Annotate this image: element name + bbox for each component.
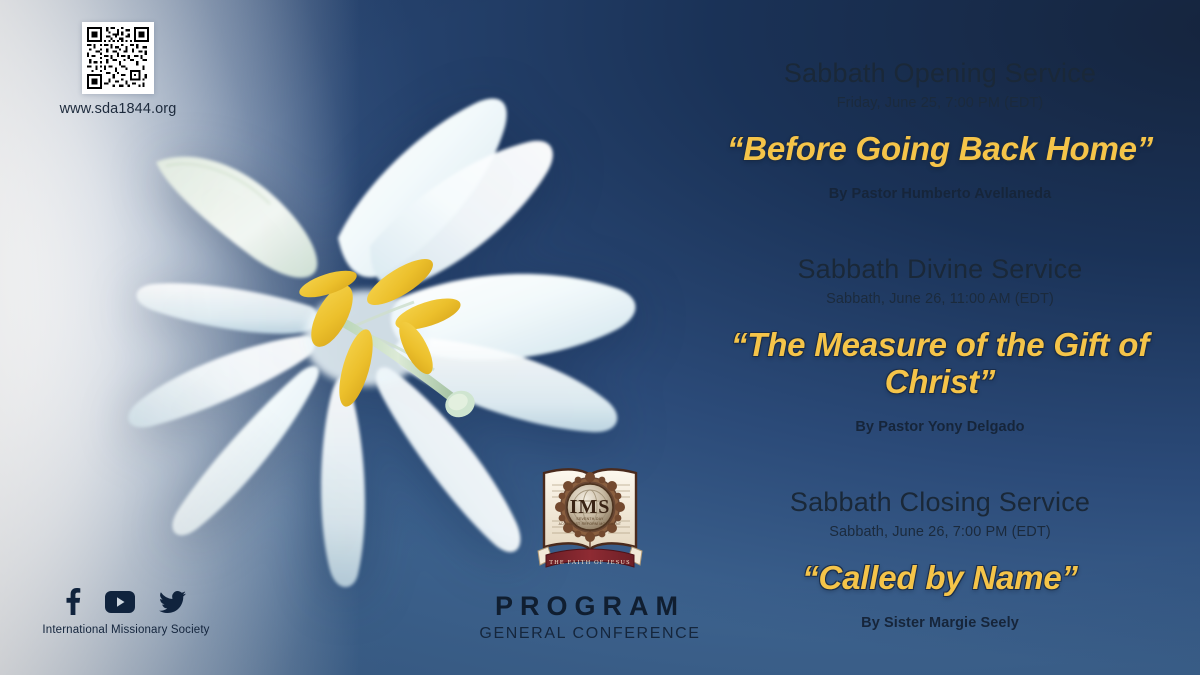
qr-block: www.sda1844.org: [54, 22, 182, 117]
twitter-icon[interactable]: [159, 591, 186, 613]
facebook-icon[interactable]: [64, 588, 81, 615]
program-title: PROGRAM: [455, 591, 725, 622]
ims-banner-text: THE FAITH OF JESUS: [549, 559, 630, 566]
service-item: Sabbath Closing Service Sabbath, June 26…: [690, 445, 1190, 631]
social-icon-row: [26, 588, 226, 615]
organization-name: International Missionary Society: [26, 624, 226, 636]
service-speaker: By Pastor Yony Delgado: [690, 419, 1190, 435]
services-list: Sabbath Opening Service Friday, June 25,…: [690, 48, 1190, 641]
service-heading: Sabbath Opening Service: [690, 58, 1190, 89]
service-sermon-title: “Called by Name”: [690, 560, 1190, 597]
service-speaker: By Pastor Humberto Avellaneda: [690, 186, 1190, 202]
program-subtitle: GENERAL CONFERENCE: [455, 625, 725, 643]
service-speaker: By Sister Margie Seely: [690, 615, 1190, 631]
website-url[interactable]: www.sda1844.org: [54, 101, 182, 117]
service-heading: Sabbath Divine Service: [690, 254, 1190, 285]
youtube-icon[interactable]: [105, 591, 135, 613]
service-sermon-title: “The Measure of the Gift of Christ”: [690, 327, 1190, 401]
ims-seal-icon: IMS SEVENTH-DAY ADVENTIST REFORM MOVEMEN…: [532, 455, 648, 579]
ims-inner-line-1: SEVENTH-DAY: [576, 517, 604, 521]
service-sermon-title: “Before Going Back Home”: [690, 131, 1190, 168]
service-datetime: Friday, June 25, 7:00 PM (EDT): [690, 95, 1190, 111]
service-item: Sabbath Divine Service Sabbath, June 26,…: [690, 212, 1190, 435]
service-heading: Sabbath Closing Service: [690, 487, 1190, 518]
social-block: International Missionary Society: [26, 588, 226, 636]
service-item: Sabbath Opening Service Friday, June 25,…: [690, 48, 1190, 202]
service-datetime: Sabbath, June 26, 7:00 PM (EDT): [690, 524, 1190, 540]
center-block: IMS SEVENTH-DAY ADVENTIST REFORM MOVEMEN…: [455, 455, 725, 643]
qr-code-icon[interactable]: [82, 22, 154, 94]
ims-monogram: IMS: [570, 496, 611, 518]
program-slide: www.sda1844.org International Missionary…: [0, 0, 1200, 675]
service-datetime: Sabbath, June 26, 11:00 AM (EDT): [690, 291, 1190, 307]
ims-inner-line-2: ADVENTIST REFORM MOVEMENT: [559, 522, 622, 526]
